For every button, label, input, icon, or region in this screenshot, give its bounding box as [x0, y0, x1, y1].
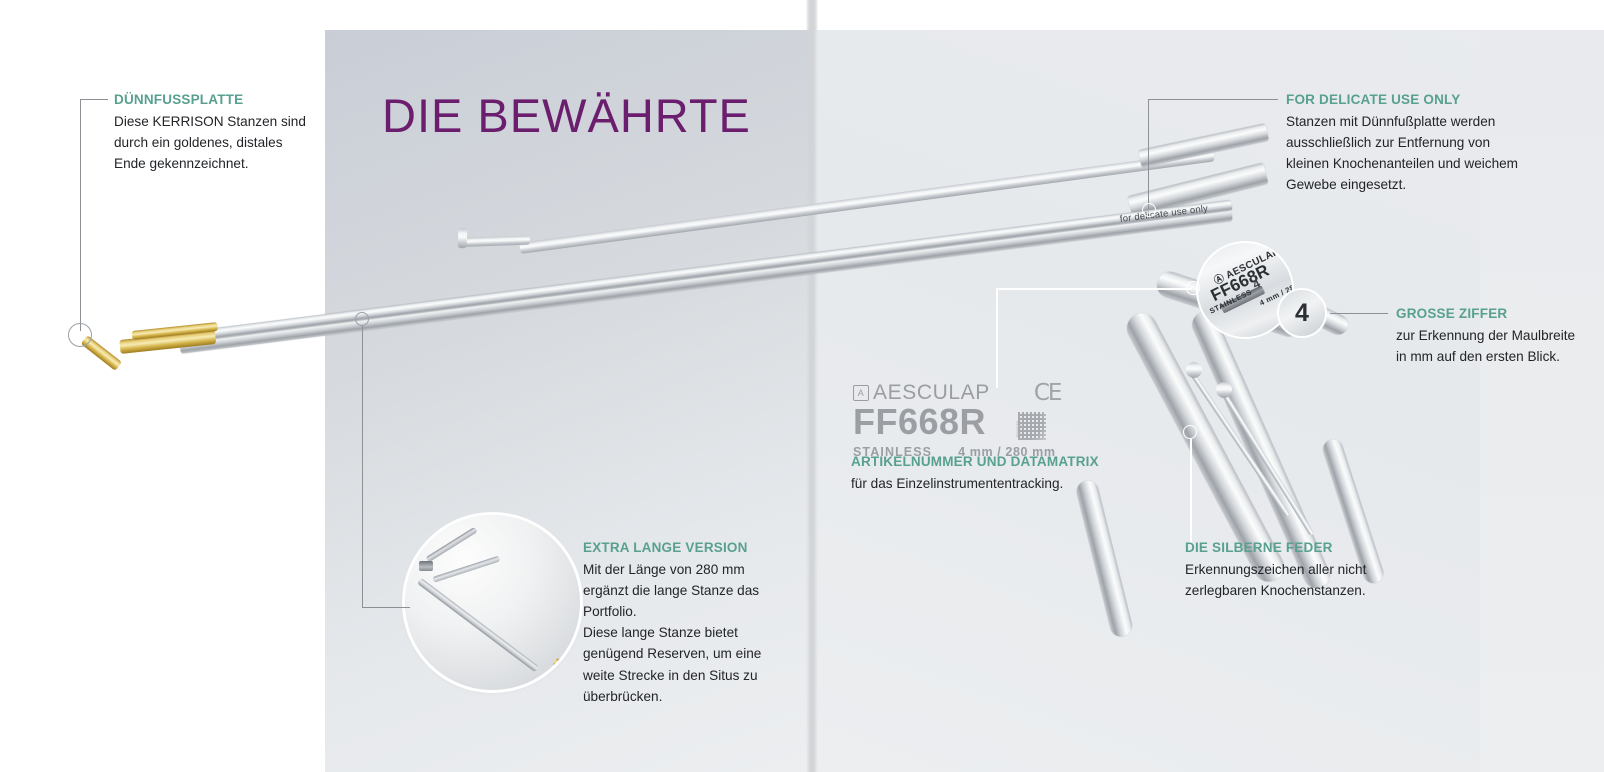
text-line: Portfolio.: [583, 601, 761, 622]
marker-shaft-engraving: [1142, 203, 1156, 217]
inset-jaw-tip: [419, 561, 433, 571]
leader-extra-lange-horizontal: [362, 607, 410, 608]
text-line: Gewebe eingesetzt.: [1286, 174, 1518, 195]
text-line: Mit der Länge von 280 mm: [583, 559, 761, 580]
spec-text: 4 mm / 280 mm: [958, 445, 1055, 459]
leader-artikelnummer-horizontal: [996, 288, 1192, 290]
leader-grosse-ziffer: [1330, 313, 1388, 314]
inset-shaft: [417, 578, 539, 673]
text-line: überbrücken.: [583, 686, 761, 707]
callout-extra-lange-version: EXTRA LANGE VERSION Mit der Länge von 28…: [583, 539, 761, 707]
instrument-spring-pivot-lower: [1216, 382, 1232, 398]
page-title: DIE BEWÄHRTE: [382, 88, 751, 143]
text-line: Stanzen mit Dünnfußplatte werden: [1286, 111, 1518, 132]
leader-delicate-vertical: [1148, 99, 1149, 209]
marker-gold-tip: [68, 323, 92, 347]
text-line: weite Strecke in den Situs zu: [583, 665, 761, 686]
callout-extra-lange-version-body: Mit der Länge von 280 mm ergänzt die lan…: [583, 559, 761, 706]
text-line: Diese lange Stanze bietet: [583, 622, 761, 643]
text-line: durch ein goldenes, distales: [114, 132, 306, 153]
callout-grosse-ziffer: GROSSE ZIFFER zur Erkennung der Maulbrei…: [1396, 305, 1575, 367]
leader-artikelnummer-vertical: [996, 288, 998, 388]
text-line: für das Einzelinstrumententracking.: [851, 473, 1099, 494]
callout-artikelnummer: ARTIKELNUMMER UND DATAMATRIX für das Ein…: [851, 453, 1099, 494]
marker-main-shaft: [355, 312, 369, 326]
text-line: kleinen Knochenanteilen und weichem: [1286, 153, 1518, 174]
callout-silberne-feder: DIE SILBERNE FEDER Erkennungszeichen all…: [1185, 539, 1366, 601]
callout-dunnfussplatte: DÜNNFUSSPLATTE Diese KERRISON Stanzen si…: [114, 91, 306, 174]
text-line: zerlegbaren Knochenstanzen.: [1185, 580, 1366, 601]
marker-silver-spring: [1183, 425, 1197, 439]
callout-delicate-use-body: Stanzen mit Dünnfußplatte werden ausschl…: [1286, 111, 1518, 195]
text-line: Erkennungszeichen aller nicht: [1185, 559, 1366, 580]
callout-silberne-feder-heading: DIE SILBERNE FEDER: [1185, 539, 1366, 557]
callout-delicate-use: FOR DELICATE USE ONLY Stanzen mit Dünnfu…: [1286, 91, 1518, 195]
callout-extra-lange-version-heading: EXTRA LANGE VERSION: [583, 539, 761, 557]
datamatrix-icon: - 960130 -: [1018, 412, 1046, 440]
text-line: Ende gekennzeichnet.: [114, 153, 306, 174]
long-version-inset-photo: [405, 515, 580, 690]
product-label: A AESCULAP CE FF668R - 960130 - STAINLES…: [853, 380, 1060, 459]
leader-extra-lange-vertical: [362, 325, 363, 608]
callout-silberne-feder-body: Erkennungszeichen aller nicht zerlegbare…: [1185, 559, 1366, 601]
leader-silberne-feder-vertical: [1190, 438, 1192, 546]
jaw-width-magnifier: 4: [1277, 288, 1327, 338]
datamatrix-label: - 960130 -: [1016, 418, 1022, 441]
text-line: ausschließlich zur Entfernung von: [1286, 132, 1518, 153]
text-line: zur Erkennung der Maulbreite: [1396, 325, 1575, 346]
instrument-upper-jaw-hook: [458, 228, 468, 248]
text-line: in mm auf den ersten Blick.: [1396, 346, 1575, 367]
callout-grosse-ziffer-body: zur Erkennung der Maulbreite in mm auf d…: [1396, 325, 1575, 367]
callout-delicate-use-heading: FOR DELICATE USE ONLY: [1286, 91, 1518, 109]
callout-dunnfussplatte-body: Diese KERRISON Stanzen sind durch ein go…: [114, 111, 306, 174]
callout-grosse-ziffer-heading: GROSSE ZIFFER: [1396, 305, 1575, 323]
callout-dunnfussplatte-heading: DÜNNFUSSPLATTE: [114, 91, 306, 109]
leader-dunnfussplatte-vertical: [80, 99, 81, 331]
text-line: ergänzt die lange Stanze das: [583, 580, 761, 601]
instrument-spring-pivot-upper: [1186, 362, 1202, 378]
callout-artikelnummer-body: für das Einzelinstrumententracking.: [851, 473, 1099, 494]
brochure-page: for delicate use only Ⓐ AESCULAP FF668R …: [0, 0, 1604, 772]
leader-dunnfussplatte-horizontal: [80, 99, 108, 100]
text-line: Diese KERRISON Stanzen sind: [114, 111, 306, 132]
leader-delicate-horizontal: [1148, 99, 1278, 100]
ce-mark-icon: CE: [1034, 380, 1061, 406]
jaw-width-digit: 4: [1295, 301, 1309, 326]
material-text: STAINLESS: [853, 445, 932, 459]
inset-jaw-lower: [432, 556, 500, 583]
text-line: genügend Reserven, um eine: [583, 643, 761, 664]
page-fold-line: [806, 0, 818, 772]
aesculap-logo-icon: A: [853, 385, 869, 401]
marker-handle-engraving: [1186, 281, 1200, 295]
article-number-text: FF668R: [853, 404, 986, 440]
